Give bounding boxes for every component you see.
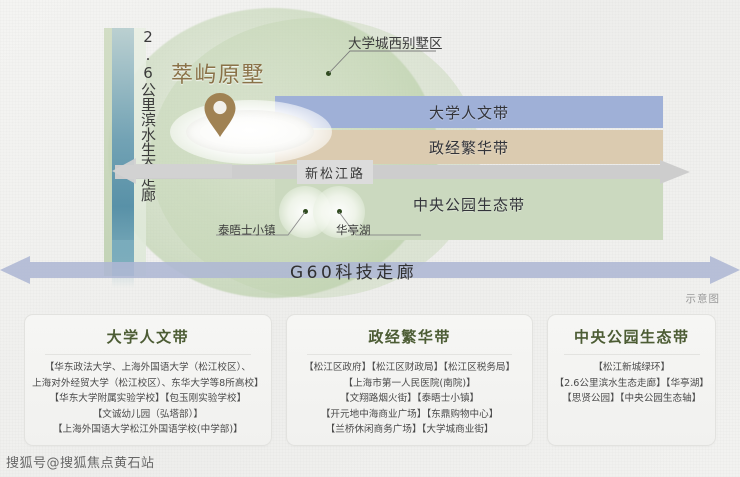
card-university-humanities: 大学人文带 【华东政法大学、上海外国语大学（松江校区）、 上海对外经贸大学（松江…	[24, 314, 272, 446]
card-line: 【文诚幼儿园（弘塔部）】	[93, 408, 203, 421]
page-root: 2.6公里滨水生态走廊 大学人文带 政经繁华带 中央公园生态带 萃屿原墅	[0, 0, 740, 477]
card-line: 上海对外经贸大学（松江校区）、东华大学等8所高校】	[32, 377, 264, 390]
g60-corridor-label: G60科技走廊	[290, 258, 417, 283]
project-name-label: 萃屿原墅	[171, 57, 265, 89]
card-divider	[564, 354, 700, 355]
road-name-label: 新松江路	[297, 160, 373, 184]
callout-huating-lake: 华亭湖	[336, 222, 371, 238]
card-line: 【2.6公里滨水生态走廊】【华亭湖】	[555, 377, 709, 390]
card-line: 【上海市第一人民医院(南院)】	[343, 377, 475, 390]
card-line: 【开元地中海商业广场】【东鼎购物中心】	[321, 408, 498, 421]
card-body: 【松江区政府】【松江区财政局】【松江区税务局】 【上海市第一人民医院(南院)】 …	[304, 361, 515, 436]
band-university-humanities: 大学人文带	[275, 96, 663, 128]
card-line: 【松江新城绿环】	[593, 361, 670, 374]
card-political-economic: 政经繁华带 【松江区政府】【松江区财政局】【松江区税务局】 【上海市第一人民医院…	[286, 314, 534, 446]
band-label: 中央公园生态带	[413, 194, 525, 215]
card-title: 政经繁华带	[368, 322, 451, 354]
riverway-water-strip	[112, 28, 134, 276]
card-line: 【兰桥休闲商务广场】【大学城商业街】	[326, 423, 494, 436]
callout-thames-town: 泰晤士小镇	[218, 222, 276, 238]
card-line: 【松江区政府】【松江区财政局】【松江区税务局】	[304, 361, 515, 374]
card-line: 【华东政法大学、上海外国语大学（松江校区）、	[45, 361, 251, 374]
card-central-park-ecology: 中央公园生态带 【松江新城绿环】 【2.6公里滨水生态走廊】【华亭湖】 【思贤公…	[547, 314, 716, 446]
card-line: 【上海外国语大学松江外国语学校(中学部)】	[53, 423, 243, 436]
callout-villa-district: 大学城西别墅区	[348, 32, 443, 52]
band-label: 政经繁华带	[429, 137, 509, 158]
band-political-economic: 政经繁华带	[275, 130, 663, 164]
band-label: 大学人文带	[429, 102, 509, 123]
card-line: 【思贤公园】【中央公园生态轴】	[562, 392, 701, 405]
card-title: 大学人文带	[107, 322, 190, 354]
map-pin-icon	[203, 92, 237, 142]
sketch-note-label: 示意图	[686, 291, 721, 306]
corridor-left-arrow-icon	[112, 158, 232, 188]
card-line: 【文翔路烟火街】【泰晤士小镇】	[340, 392, 479, 405]
card-body: 【华东政法大学、上海外国语大学（松江校区）、 上海对外经贸大学（松江校区）、东华…	[32, 361, 264, 436]
watermark-label: 搜狐号@搜狐焦点黄石站	[6, 452, 155, 471]
master-plan-diagram: 2.6公里滨水生态走廊 大学人文带 政经繁华带 中央公园生态带 萃屿原墅	[0, 0, 740, 310]
card-line: 【华东大学附属实验学校】【包玉刚实验学校】	[50, 392, 247, 405]
card-divider	[307, 354, 513, 355]
card-title: 中央公园生态带	[574, 322, 690, 354]
card-divider	[45, 354, 251, 355]
card-body: 【松江新城绿环】 【2.6公里滨水生态走廊】【华亭湖】 【思贤公园】【中央公园生…	[555, 361, 709, 405]
highlight-cards: 大学人文带 【华东政法大学、上海外国语大学（松江校区）、 上海对外经贸大学（松江…	[24, 314, 716, 446]
